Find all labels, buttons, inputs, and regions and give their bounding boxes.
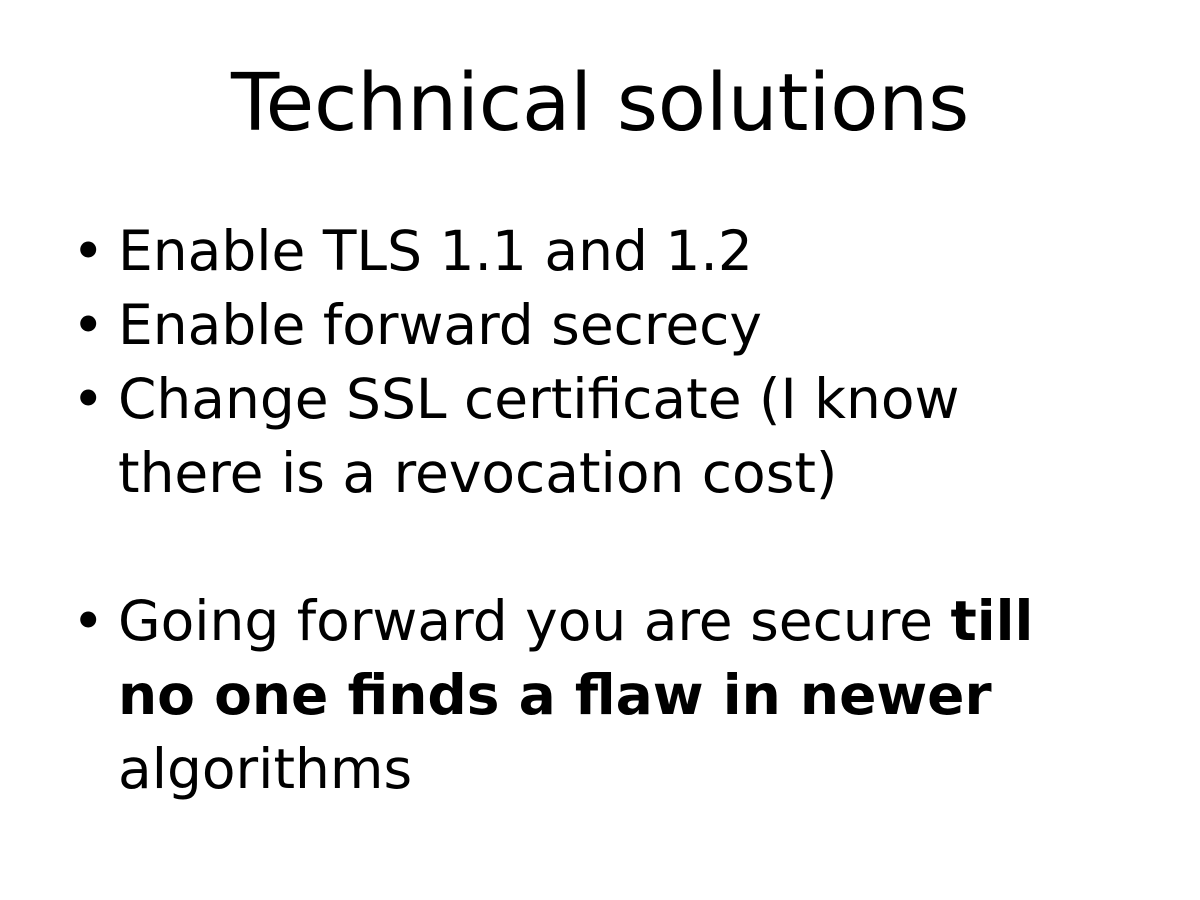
bullet-point-icon: • <box>72 288 96 362</box>
bullet-list: • Enable TLS 1.1 and 1.2 • Enable forwar… <box>62 214 1122 806</box>
slide-title: Technical solutions <box>60 62 1140 145</box>
bullet-item-enable-tls: • Enable TLS 1.1 and 1.2 <box>62 214 1122 288</box>
bullet-item-going-forward-secure: • Going forward you are secure till no o… <box>62 584 1122 806</box>
bullet-item-change-ssl-certificate: • Change SSL certificate (I know there i… <box>62 362 1122 510</box>
bullet-point-icon: • <box>72 214 96 288</box>
bullet-point-icon: • <box>72 362 96 436</box>
bullet-text: Enable forward secrecy <box>118 293 762 357</box>
bullet-item-enable-forward-secrecy: • Enable forward secrecy <box>62 288 1122 362</box>
bullet-text-run-trailing: algorithms <box>118 737 412 801</box>
presentation-slide: Technical solutions • Enable TLS 1.1 and… <box>0 0 1200 900</box>
slide-body: • Enable TLS 1.1 and 1.2 • Enable forwar… <box>62 214 1122 806</box>
bullet-text: Change SSL certificate (I know there is … <box>118 367 960 505</box>
bullet-text-run-regular: Going forward you are secure <box>118 589 950 653</box>
bullet-text: Enable TLS 1.1 and 1.2 <box>118 219 753 283</box>
bullet-point-icon: • <box>72 584 96 658</box>
bullet-text: Going forward you are secure till no one… <box>118 589 1033 801</box>
